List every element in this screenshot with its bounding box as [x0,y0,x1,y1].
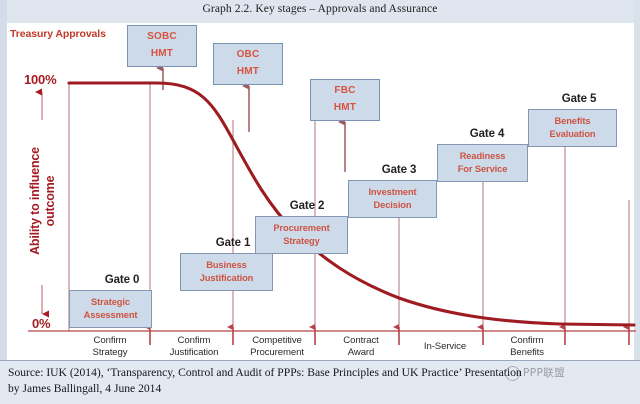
gate-box-1-line2: Justification [181,272,272,285]
approval-box-obc-line2: HMT [214,66,282,78]
y-axis-title: Ability to influence outcome [28,126,58,276]
gate-box-2-line1: Procurement [256,222,347,235]
x-stage-label-3: Contract Award [323,335,399,359]
x-stage-label-4-line1: In-Service [424,341,466,352]
x-stage-label-4: In-Service [407,341,483,353]
gate-box-5-line2: Evaluation [529,128,616,141]
gate-box-3-line1: Investment [349,186,436,199]
y-axis-title-line1: Ability to influence [28,147,42,255]
gate-label-2: Gate 2 [263,200,351,212]
y-axis-title-line2: outcome [43,176,57,227]
x-stage-label-0-line2: Strategy [93,347,128,358]
y-axis-max-label: 100% [24,72,56,87]
x-stage-label-5-line1: Confirm [511,335,544,346]
approval-box-obc-line1: OBC [214,49,282,61]
x-stage-label-1: Confirm Justification [156,335,232,359]
gate-box-1[interactable]: Business Justification [180,253,273,291]
x-stage-label-2-line1: Competitive [252,335,302,346]
gate-box-0-line1: Strategic [70,296,151,309]
gate-label-4: Gate 4 [443,128,531,140]
x-stage-label-5: Confirm Benefits [489,335,565,359]
gate-label-5: Gate 5 [535,93,623,105]
source-note-line2: by James Ballingall, 4 June 2014 [8,381,632,397]
x-stage-label-0-line1: Confirm [94,335,127,346]
source-note-line1: Source: IUK (2014), ‘Transparency, Contr… [8,365,632,381]
gate-box-4-line1: Readiness [438,150,527,163]
x-stage-label-2: Competitive Procurement [239,335,315,359]
gate-box-1-line1: Business [181,259,272,272]
gate-box-3-line2: Decision [349,199,436,212]
x-stage-label-0: Confirm Strategy [72,335,148,359]
source-note: Source: IUK (2014), ‘Transparency, Contr… [8,365,632,397]
x-stage-label-1-line2: Justification [170,347,219,358]
approval-box-sobc-line2: HMT [128,48,196,60]
gate-box-2[interactable]: Procurement Strategy [255,216,348,254]
gate-label-0: Gate 0 [78,274,166,286]
approval-box-fbc[interactable]: FBC HMT [310,79,380,121]
approval-box-fbc-line1: FBC [311,85,379,97]
x-stage-label-3-line2: Award [348,347,375,358]
approval-box-sobc[interactable]: SOBC HMT [127,25,197,67]
gate-box-4[interactable]: Readiness For Service [437,144,528,182]
gate-box-4-line2: For Service [438,163,527,176]
gate-box-0-line2: Assessment [70,309,151,322]
treasury-approvals-label: Treasury Approvals [10,28,106,40]
x-stage-label-1-line1: Confirm [178,335,211,346]
approval-box-sobc-line1: SOBC [128,31,196,43]
slide: Graph 2.2. Key stages – Approvals and As… [0,0,640,404]
x-stage-label-3-line1: Contract [343,335,378,346]
y-axis-min-label: 0% [32,316,50,331]
gate-box-5[interactable]: Benefits Evaluation [528,109,617,147]
gate-box-3[interactable]: Investment Decision [348,180,437,218]
x-stage-label-2-line2: Procurement [250,347,304,358]
gate-box-2-line2: Strategy [256,235,347,248]
approval-box-fbc-line2: HMT [311,102,379,114]
x-stage-label-5-line2: Benefits [510,347,544,358]
gate-box-5-line1: Benefits [529,115,616,128]
gate-box-0[interactable]: Strategic Assessment [69,290,152,328]
approval-box-obc[interactable]: OBC HMT [213,43,283,85]
gate-label-3: Gate 3 [355,164,443,176]
